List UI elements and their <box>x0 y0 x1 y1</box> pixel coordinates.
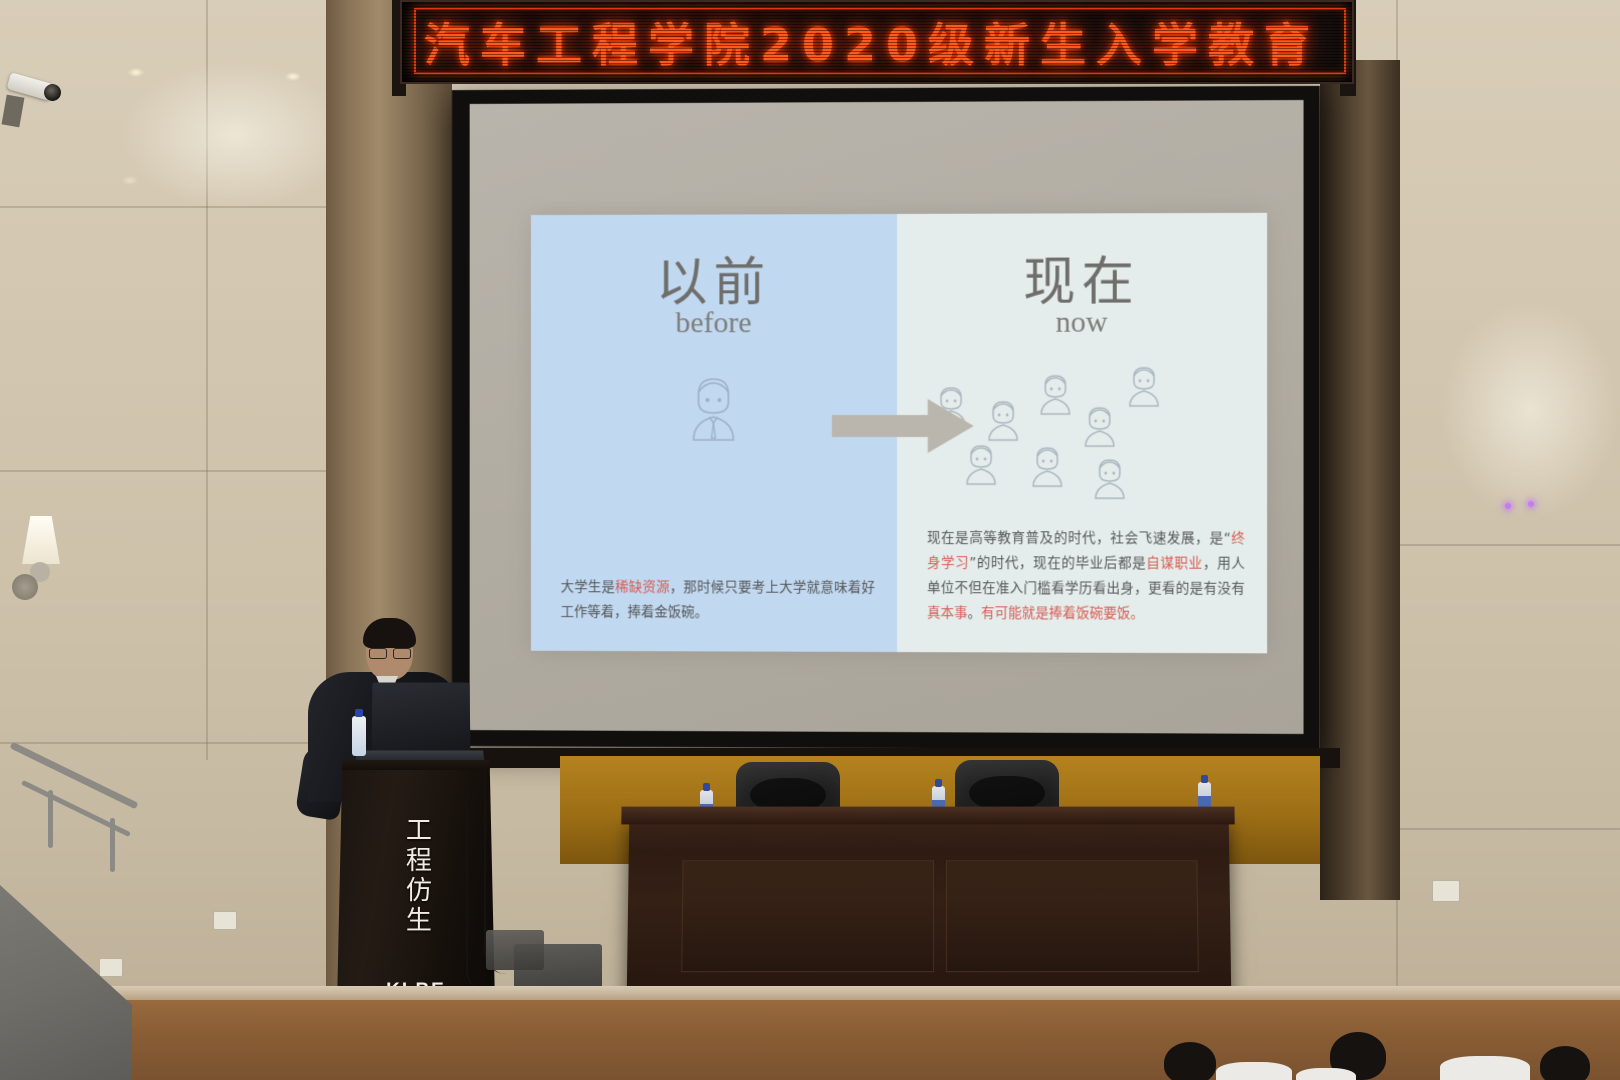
purple-led-indicator <box>1505 503 1511 509</box>
sconce-wall-plate <box>12 574 38 600</box>
slide-body-now-part-2: ”的时代，现在的毕业后都是 <box>969 555 1146 571</box>
lecture-hall-photo: 汽车工程学院2020级新生入学教育 以前 before <box>0 0 1620 1080</box>
slide-title-now-en: now <box>897 305 1267 340</box>
wall-seam <box>1398 544 1620 546</box>
slide-body-now-highlight-2: 自谋职业 <box>1146 556 1203 572</box>
audience-shoulders <box>1440 1056 1530 1080</box>
equipment-box <box>486 930 544 970</box>
ceiling-light-reflection <box>285 72 301 81</box>
wall-outlet[interactable] <box>99 958 123 977</box>
slide-body-now-part-6: 。 <box>968 605 982 621</box>
power-cable <box>466 790 484 990</box>
audience-head <box>1540 1046 1590 1080</box>
presentation-slide: 以前 before 大学生是稀缺资源，那时候只要考上大学就意味着好工作等着，捧着… <box>531 213 1267 654</box>
single-person-icon <box>686 372 742 442</box>
person-icon <box>1029 444 1065 488</box>
podium-label-cn: 工程仿生 <box>401 816 432 936</box>
person-icon <box>1126 364 1162 408</box>
slide-body-before-highlight: 稀缺资源 <box>615 579 670 595</box>
audience-shoulders <box>1216 1062 1292 1080</box>
slide-body-now-highlight-4: 有可能就是捧着饭碗要饭。 <box>981 605 1144 622</box>
slide-title-before-en: before <box>531 306 897 340</box>
led-banner-text: 汽车工程学院2020级新生入学教育 <box>424 9 1320 75</box>
slide-body-before-part-0: 大学生是 <box>561 579 616 595</box>
rail-post <box>48 790 53 848</box>
audience-shoulders <box>1296 1068 1356 1080</box>
person-icon <box>1082 404 1118 448</box>
slide-body-now-highlight-3: 真本事 <box>927 605 968 621</box>
ceiling-light-reflection <box>122 176 138 185</box>
person-icon <box>985 398 1021 442</box>
slide-body-now-part-0: 现在是高等教育普及的时代，社会飞速发展，是“ <box>927 530 1231 547</box>
wall-outlet[interactable] <box>1432 880 1460 902</box>
person-icon <box>1092 456 1128 500</box>
water-bottle[interactable] <box>352 716 366 756</box>
wall-pillar-right <box>1320 60 1400 900</box>
table-top-edge <box>621 807 1234 825</box>
ceiling-light-reflection <box>128 68 144 77</box>
slide-body-now: 现在是高等教育普及的时代，社会飞速发展，是“终身学习”的时代，现在的毕业后都是自… <box>927 526 1245 627</box>
conference-table <box>627 818 1232 1000</box>
led-banner: 汽车工程学院2020级新生入学教育 <box>400 0 1354 84</box>
slide-title-now-cn: 现在 <box>897 239 1267 315</box>
audience-head <box>1164 1042 1216 1080</box>
wall-outlet[interactable] <box>213 911 237 930</box>
laptop-screen[interactable] <box>372 682 471 752</box>
person-icon <box>1037 372 1073 416</box>
table-front-panel <box>946 860 1199 972</box>
speaker-glasses-icon <box>369 648 411 657</box>
slide-title-before-cn: 以前 <box>531 240 897 316</box>
projection-screen-frame: 以前 before 大学生是稀缺资源，那时候只要考上大学就意味着好工作等着，捧着… <box>452 86 1320 750</box>
wall-seam <box>206 0 208 760</box>
rail-post <box>110 818 115 872</box>
projection-screen-surface: 以前 before 大学生是稀缺资源，那时候只要考上大学就意味着好工作等着，捧着… <box>470 100 1304 734</box>
right-arrow-icon <box>832 399 974 453</box>
slide-body-before: 大学生是稀缺资源，那时候只要考上大学就意味着好工作等着，捧着金饭碗。 <box>561 575 875 626</box>
purple-led-indicator <box>1528 501 1534 507</box>
table-front-panel <box>681 860 934 972</box>
wall-seam <box>1398 828 1620 830</box>
